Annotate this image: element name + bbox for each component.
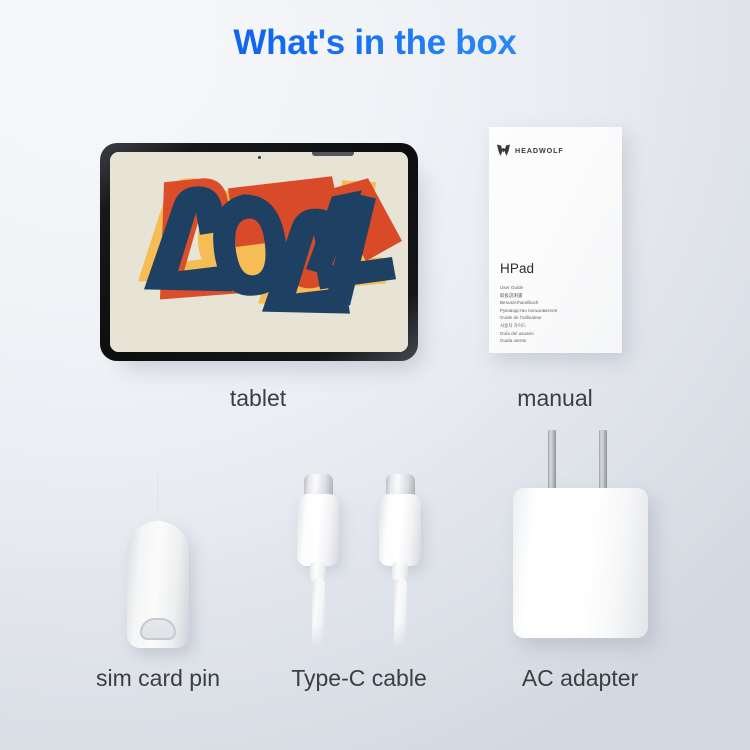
manual-language-item: Guía del usuario bbox=[500, 330, 615, 338]
headwolf-logo: HEADWOLF bbox=[496, 144, 564, 157]
usb-c-cord bbox=[312, 578, 325, 650]
product-sim-card-pin bbox=[127, 473, 189, 648]
manual-language-item: Guida utente bbox=[500, 337, 615, 345]
product-ac-adapter bbox=[508, 430, 653, 648]
sim-pin-body bbox=[127, 521, 189, 648]
manual-language-item: Guide de l'utilisateur bbox=[500, 314, 615, 322]
caption-tablet: tablet bbox=[158, 385, 358, 412]
caption-type-c-cable: Type-C cable bbox=[259, 665, 459, 692]
whats-in-the-box-poster: What's in the box bbox=[0, 0, 750, 750]
manual-language-list: User Guide 取扱説明書 Benutzerhandbuch Руково… bbox=[500, 284, 615, 345]
usb-c-cord bbox=[394, 578, 407, 650]
sim-pin-keyring-hole bbox=[140, 618, 176, 640]
tablet-bezel bbox=[100, 143, 418, 361]
manual-language-item: 取扱説明書 bbox=[500, 292, 615, 300]
tablet-front-camera-icon bbox=[258, 156, 261, 159]
wolf-head-icon bbox=[496, 144, 511, 157]
manual-cover: HEADWOLF HPad User Guide 取扱説明書 Benutzerh… bbox=[489, 127, 622, 353]
manual-model-title: HPad bbox=[500, 261, 534, 276]
caption-manual: manual bbox=[465, 385, 645, 412]
manual-language-item: Benutzerhandbuch bbox=[500, 299, 615, 307]
tablet-top-notch bbox=[312, 152, 354, 156]
caption-sim-card-pin: sim card pin bbox=[58, 665, 258, 692]
tablet-wallpaper-2024 bbox=[110, 152, 408, 352]
product-manual: HEADWOLF HPad User Guide 取扱説明書 Benutzerh… bbox=[489, 127, 622, 353]
ac-adapter-prong-right bbox=[599, 430, 607, 492]
wallpaper-2024-artwork bbox=[110, 152, 408, 352]
product-type-c-cable bbox=[296, 474, 422, 650]
tablet-screen bbox=[110, 152, 408, 352]
manual-language-item: User Guide bbox=[500, 284, 615, 292]
product-tablet bbox=[100, 143, 418, 361]
ac-adapter-body bbox=[513, 488, 648, 638]
usb-c-connector-right bbox=[378, 474, 422, 650]
caption-ac-adapter: AC adapter bbox=[480, 665, 680, 692]
manual-language-item: Руководство пользователя bbox=[500, 307, 615, 315]
usb-c-housing bbox=[297, 494, 339, 566]
manual-language-item: 사용자 가이드 bbox=[500, 322, 615, 330]
usb-c-connector-left bbox=[296, 474, 340, 650]
usb-c-housing bbox=[379, 494, 421, 566]
manual-brand-text: HEADWOLF bbox=[515, 146, 564, 155]
ac-adapter-prong-left bbox=[548, 430, 556, 492]
page-title: What's in the box bbox=[0, 23, 750, 63]
